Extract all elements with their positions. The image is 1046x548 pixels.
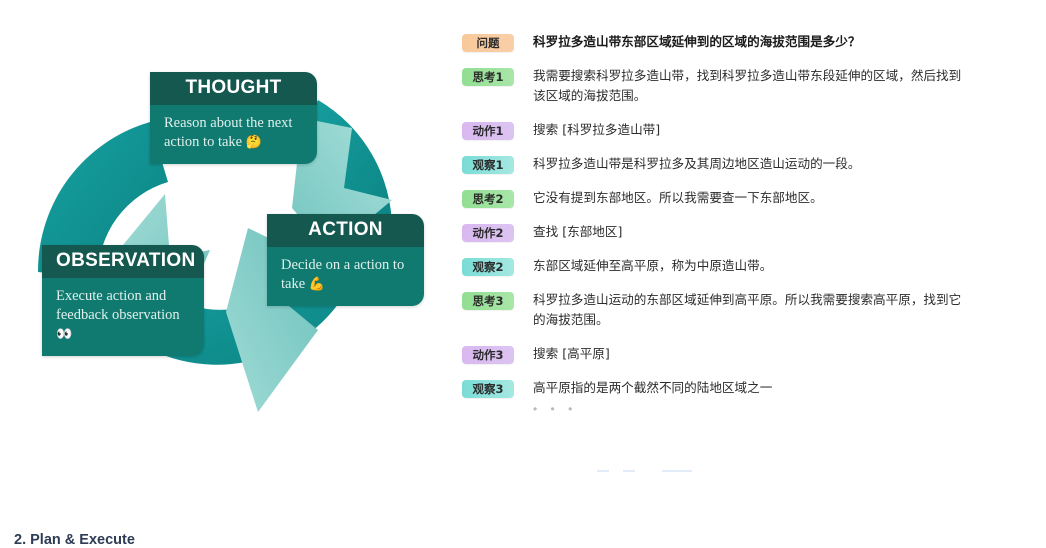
node-thought-body-text: Reason about the next action to take [164, 115, 292, 150]
badge-observation-2: 观察2 [462, 258, 514, 276]
node-thought-body: Reason about the next action to take 🤔 [150, 105, 317, 164]
diagram-node-thought: THOUGHT Reason about the next action to … [150, 72, 317, 164]
node-observation-body: Execute action and feedback observation … [42, 278, 204, 356]
clipped-element-fragment [597, 462, 717, 468]
node-action-body: Decide on a action to take 💪 [267, 247, 424, 306]
badge-observation-1: 观察1 [462, 156, 514, 174]
trace-row: 观察3 高平原指的是两个截然不同的陆地区域之一 [462, 378, 982, 398]
react-trace-panel: 问题 科罗拉多造山带东部区域延伸到的区域的海拔范围是多少？ 思考1 我需要搜索科… [462, 32, 982, 416]
section-heading-plan-and-execute: 2. Plan & Execute [14, 532, 135, 548]
badge-action-1: 动作1 [462, 122, 514, 140]
node-thought-title: THOUGHT [150, 72, 317, 105]
badge-question: 问题 [462, 34, 514, 52]
react-cycle-diagram: THOUGHT Reason about the next action to … [0, 0, 460, 470]
trace-text-observation-3: 高平原指的是两个截然不同的陆地区域之一 [533, 378, 772, 398]
trace-text-action-2: 查找 [东部地区] [533, 222, 622, 242]
trace-row: 动作1 搜索 [科罗拉多造山带] [462, 120, 982, 140]
trace-row: 思考1 我需要搜索科罗拉多造山带，找到科罗拉多造山带东段延伸的区域，然后找到该区… [462, 66, 982, 106]
flexed-biceps-icon: 💪 [309, 277, 325, 292]
badge-thought-1: 思考1 [462, 68, 514, 86]
trace-row: 思考2 它没有提到东部地区。所以我需要查一下东部地区。 [462, 188, 982, 208]
node-action-title: ACTION [267, 214, 424, 247]
trace-text-thought-1: 我需要搜索科罗拉多造山带，找到科罗拉多造山带东段延伸的区域，然后找到该区域的海拔… [533, 66, 969, 106]
trace-text-action-3: 搜索 [高平原] [533, 344, 610, 364]
node-observation-body-text: Execute action and feedback observation [56, 288, 180, 323]
trace-text-thought-2: 它没有提到东部地区。所以我需要查一下东部地区。 [533, 188, 823, 208]
trace-row: 观察2 东部区域延伸至高平原，称为中原造山带。 [462, 256, 982, 276]
trace-row: 动作2 查找 [东部地区] [462, 222, 982, 242]
badge-thought-3: 思考3 [462, 292, 514, 310]
badge-observation-3: 观察3 [462, 380, 514, 398]
trace-text-observation-2: 东部区域延伸至高平原，称为中原造山带。 [533, 256, 772, 276]
trace-text-question: 科罗拉多造山带东部区域延伸到的区域的海拔范围是多少？ [533, 32, 860, 52]
trace-row: 问题 科罗拉多造山带东部区域延伸到的区域的海拔范围是多少？ [462, 32, 982, 52]
diagram-node-action: ACTION Decide on a action to take 💪 [267, 214, 424, 306]
diagram-node-observation: OBSERVATION Execute action and feedback … [42, 245, 204, 356]
trace-text-thought-3: 科罗拉多造山运动的东部区域延伸到高平原。所以我需要搜索高平原，找到它的海拔范围。 [533, 290, 969, 330]
badge-action-3: 动作3 [462, 346, 514, 364]
trace-row: 动作3 搜索 [高平原] [462, 344, 982, 364]
trace-text-observation-1: 科罗拉多造山带是科罗拉多及其周边地区造山运动的一段。 [533, 154, 860, 174]
eyes-icon: 👀 [56, 327, 72, 342]
badge-action-2: 动作2 [462, 224, 514, 242]
trace-row: 思考3 科罗拉多造山运动的东部区域延伸到高平原。所以我需要搜索高平原，找到它的海… [462, 290, 982, 330]
truncation-ellipsis: • • • [533, 402, 982, 416]
trace-row: 观察1 科罗拉多造山带是科罗拉多及其周边地区造山运动的一段。 [462, 154, 982, 174]
node-observation-title: OBSERVATION [42, 245, 204, 278]
trace-text-action-1: 搜索 [科罗拉多造山带] [533, 120, 660, 140]
node-action-body-text: Decide on a action to take [281, 257, 404, 292]
thinking-face-icon: 🤔 [246, 135, 262, 150]
badge-thought-2: 思考2 [462, 190, 514, 208]
